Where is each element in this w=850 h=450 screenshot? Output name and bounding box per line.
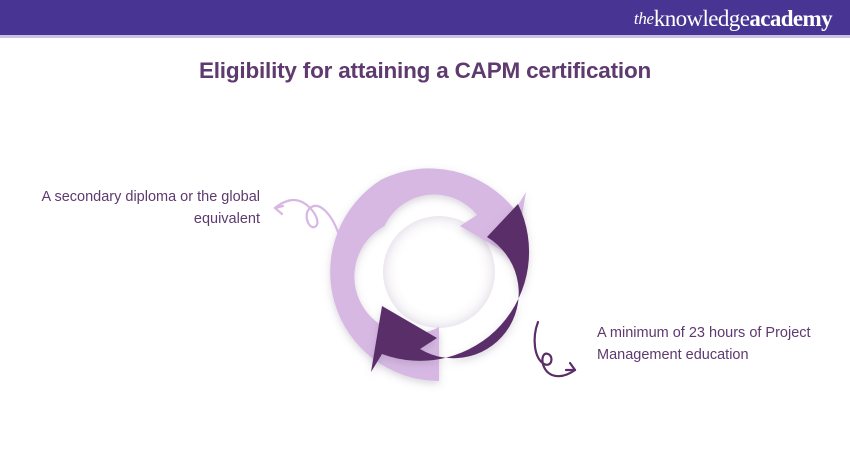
logo-word-academy: academy xyxy=(749,7,832,30)
requirement-label-secondary-diploma: A secondary diploma or the global equiva… xyxy=(35,186,260,230)
connector-arrow-right-icon xyxy=(530,318,602,392)
header-underline xyxy=(0,35,850,38)
requirement-label-project-management-hours: A minimum of 23 hours of Project Managem… xyxy=(597,322,822,366)
the-knowledge-academy-logo: theknowledgeacademy xyxy=(634,3,832,33)
logo-word-the: the xyxy=(634,10,654,27)
page-title: Eligibility for attaining a CAPM certifi… xyxy=(0,58,850,84)
infographic-page: theknowledgeacademy Eligibility for atta… xyxy=(0,0,850,450)
two-step-cycle-diagram xyxy=(319,142,559,402)
logo-word-knowledge: knowledge xyxy=(654,7,750,30)
connector-arrow-left-icon xyxy=(272,186,344,240)
